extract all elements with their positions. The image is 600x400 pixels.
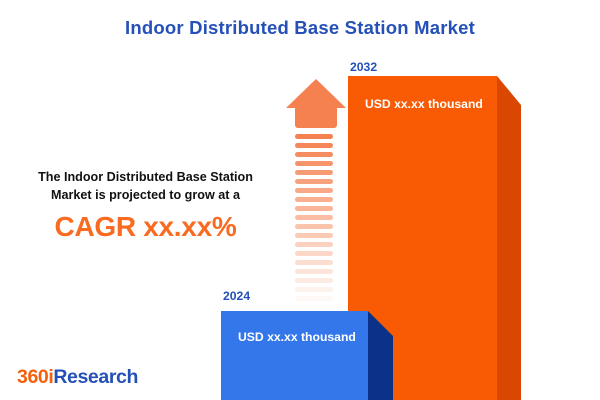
bar-2024-side-face (368, 311, 393, 400)
logo-research-text: Research (53, 366, 138, 388)
arrow-band (295, 224, 333, 229)
arrow-band (295, 215, 333, 220)
statement-line-2: Market is projected to grow at a (8, 186, 283, 204)
arrow-band (295, 161, 333, 166)
arrow-band (295, 134, 333, 139)
bar-2024-front-face: USD xx.xx thousand (221, 311, 368, 400)
market-growth-infographic: Indoor Distributed Base Station Market T… (0, 0, 600, 400)
cagr-value: CAGR xx.xx% (8, 211, 283, 243)
bar-2032-value-label: USD xx.xx thousand (365, 97, 483, 111)
page-title: Indoor Distributed Base Station Market (0, 17, 600, 39)
arrow-band (295, 251, 333, 256)
cagr-statement: The Indoor Distributed Base Station Mark… (8, 168, 283, 243)
bar-2032-year-label: 2032 (350, 60, 377, 74)
arrow-band (295, 188, 333, 193)
arrow-band (295, 260, 333, 265)
arrow-band (295, 287, 333, 292)
statement-line-1: The Indoor Distributed Base Station (8, 168, 283, 186)
arrow-head-icon (286, 79, 346, 108)
arrow-band (295, 305, 333, 310)
growth-arrow-icon (286, 79, 346, 289)
arrow-band (295, 278, 333, 283)
bar-2024-value-label: USD xx.xx thousand (238, 330, 356, 344)
arrow-band (295, 242, 333, 247)
arrow-band (295, 170, 333, 175)
arrow-band (295, 296, 333, 301)
logo-360i-text: 360i (17, 366, 53, 388)
arrow-band (295, 269, 333, 274)
bar-2024: USD xx.xx thousand (221, 311, 393, 400)
arrow-band-stack (295, 134, 333, 314)
arrow-band (295, 152, 333, 157)
arrow-band (295, 206, 333, 211)
arrow-band (295, 197, 333, 202)
bar-2032-side-face (497, 76, 521, 400)
arrow-band (295, 179, 333, 184)
arrow-neck-icon (295, 107, 337, 128)
bar-2024-year-label: 2024 (223, 289, 250, 303)
arrow-band (295, 233, 333, 238)
brand-logo: 360iResearch (17, 366, 138, 389)
arrow-band (295, 143, 333, 148)
